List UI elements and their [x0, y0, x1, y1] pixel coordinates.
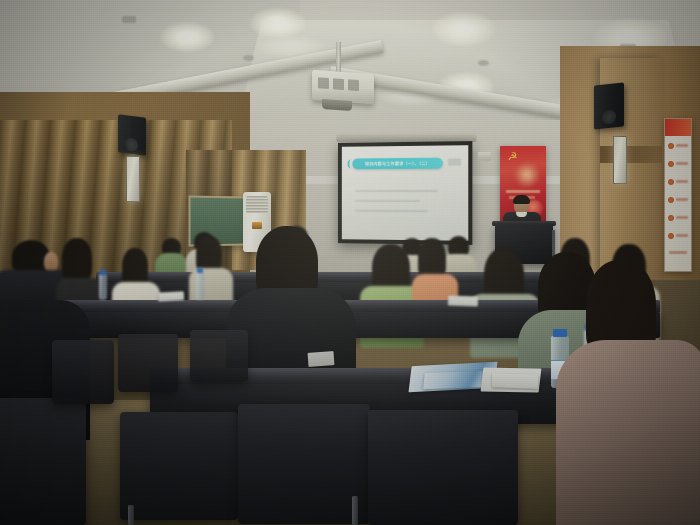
poster-icon-2 — [668, 161, 674, 167]
smoke-detector-2 — [478, 60, 489, 66]
projector-vent-2 — [333, 78, 344, 90]
conference-room-photo: 培训内容与工作要求（一）、（二） ☭ — [0, 0, 700, 525]
water-bottle-2-cap — [197, 268, 203, 273]
speaker-left-cone — [125, 137, 138, 152]
wall-poster — [664, 118, 692, 272]
handout-1 — [158, 291, 184, 301]
chair-mid-3[interactable] — [190, 330, 248, 382]
poster-icon-4 — [668, 197, 674, 203]
attendee-mid-1-head — [44, 252, 58, 272]
poster-icon-5 — [668, 215, 674, 221]
wall-sconce-right — [613, 136, 627, 184]
handout-4 — [492, 373, 538, 389]
chair-back-left-edge[interactable] — [0, 398, 86, 525]
empty-chair-1-leg — [128, 505, 134, 525]
downlight-1-core — [176, 30, 198, 41]
ceiling-vent-1 — [122, 16, 136, 23]
water-bottle-2 — [196, 272, 204, 300]
air-conditioner-display — [252, 222, 262, 229]
poster-icon-6 — [668, 233, 674, 239]
slide-body-line-3 — [355, 210, 428, 212]
poster-row-6 — [676, 234, 688, 237]
slide-body-line-2 — [355, 200, 420, 202]
slide-header-text: 培训内容与工作要求（一）、（二） — [365, 160, 430, 166]
poster-row-2 — [676, 162, 688, 165]
handout-2 — [448, 295, 478, 306]
water-bottle-1 — [99, 274, 107, 300]
right-column-band — [600, 146, 662, 163]
slide-header-pill: 培训内容与工作要求（一）、（二） — [352, 158, 443, 170]
poster-row-4 — [676, 198, 688, 201]
poster-row-5 — [676, 216, 688, 219]
wall-control-plate — [478, 152, 491, 161]
banner-glow — [514, 162, 540, 188]
projection-screen: 培训内容与工作要求（一）、（二） — [338, 141, 472, 245]
poster-row-1 — [676, 144, 688, 147]
downlight-3-core — [452, 21, 476, 33]
presenter-hair — [513, 195, 530, 204]
poster-row-7 — [669, 251, 687, 254]
empty-chair-1[interactable] — [120, 412, 238, 520]
water-bottle-1-cap — [100, 270, 106, 275]
projector-lens — [322, 99, 352, 111]
water-bottle-3-cap — [553, 329, 567, 337]
attendee-front-4-torso — [556, 340, 700, 525]
empty-chair-2[interactable] — [238, 404, 370, 524]
party-emblem-icon: ☭ — [506, 151, 519, 164]
slide-surface: 培训内容与工作要求（一）、（二） — [342, 145, 468, 241]
slide-body-line-1 — [355, 190, 438, 192]
speaker-right-cone — [602, 109, 616, 124]
chair-mid-2[interactable] — [118, 334, 178, 392]
brochure-2 — [423, 371, 487, 389]
smoke-detector-1 — [243, 55, 254, 61]
poster-row-3 — [676, 180, 688, 183]
downlight-2-core — [266, 15, 288, 26]
projector-vent-1 — [318, 77, 329, 89]
poster-icon-1 — [668, 143, 674, 149]
poster-header — [665, 119, 691, 136]
attendee-mid-2-hair — [62, 238, 92, 282]
slide-logo-icon — [448, 158, 461, 165]
chair-mid-1[interactable] — [52, 340, 114, 404]
empty-chair-2-leg — [352, 496, 358, 525]
empty-chair-3[interactable] — [368, 410, 518, 525]
poster-icon-3 — [668, 179, 674, 185]
wall-sconce-left — [126, 156, 140, 202]
speaker-right — [594, 82, 624, 129]
downlight-5-core — [616, 28, 644, 42]
speaker-left — [118, 114, 146, 155]
handout-5 — [308, 351, 335, 367]
projector-vent-3 — [348, 79, 359, 91]
projector-mount-pole — [336, 42, 341, 74]
banner-text-line-1 — [506, 190, 540, 193]
air-conditioner-grille — [246, 196, 268, 213]
